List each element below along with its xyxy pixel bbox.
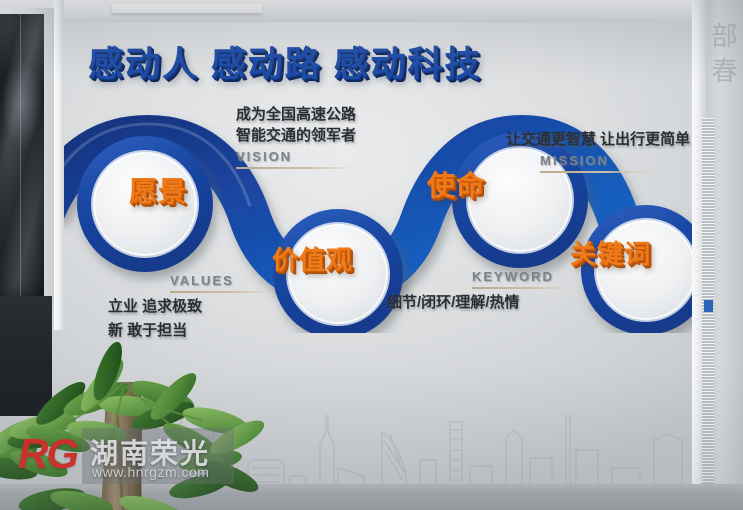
- culture-wall-photo: 愿景 价值观 使命 关键词 感动人 感动路 感动科技 成为全国高速公路 智能交通…: [0, 0, 743, 510]
- lighting-vignette: [0, 0, 743, 510]
